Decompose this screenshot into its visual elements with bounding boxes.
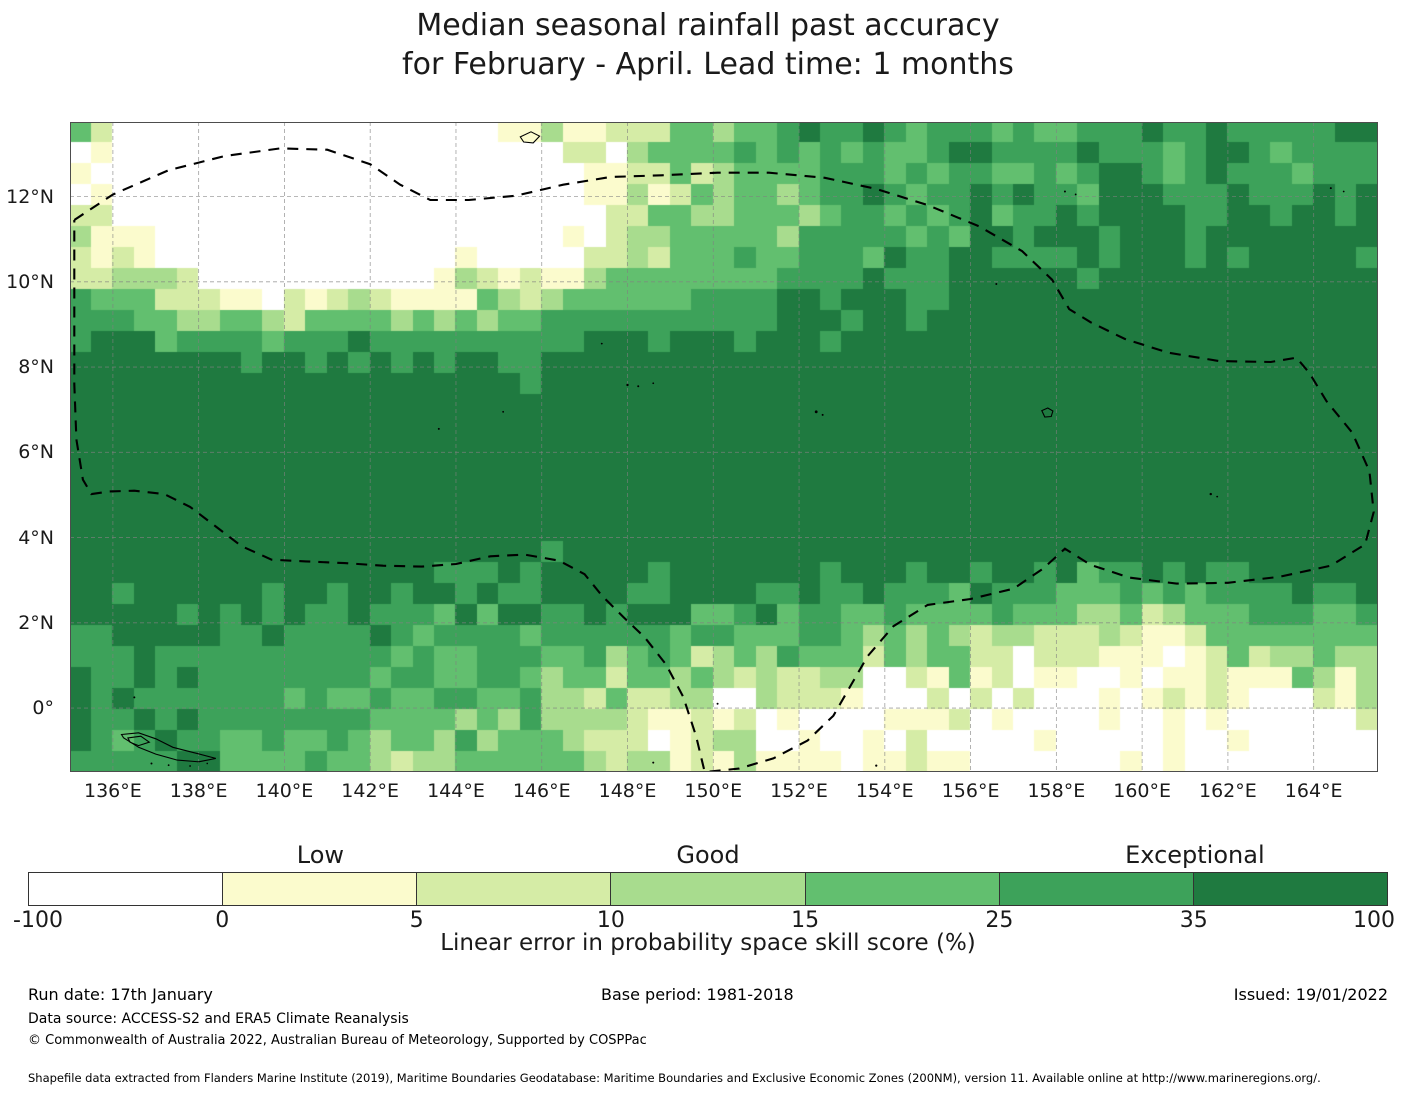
x-tick-144°E: 144°E bbox=[427, 780, 485, 802]
colorbar-segment-10-15 bbox=[610, 873, 804, 905]
colorbar-segment-15-25 bbox=[805, 873, 999, 905]
x-tick-160°E: 160°E bbox=[1113, 780, 1171, 802]
footer-copyright: © Commonwealth of Australia 2022, Austra… bbox=[28, 1033, 647, 1048]
colorbar-label-exceptional: Exceptional bbox=[1125, 841, 1265, 869]
x-axis-tick-labels: 136°E138°E140°E142°E144°E146°E148°E150°E… bbox=[70, 780, 1378, 810]
colorbar-segment-5-10 bbox=[416, 873, 610, 905]
x-tick-152°E: 152°E bbox=[770, 780, 828, 802]
y-tick-8°N: 8°N bbox=[18, 356, 54, 378]
map-plot-area[interactable] bbox=[70, 122, 1378, 772]
coastline-line bbox=[122, 132, 1345, 767]
x-tick-154°E: 154°E bbox=[856, 780, 914, 802]
x-tick-158°E: 158°E bbox=[1027, 780, 1085, 802]
colorbar-segments bbox=[28, 872, 1388, 906]
x-tick-136°E: 136°E bbox=[84, 780, 142, 802]
x-tick-138°E: 138°E bbox=[170, 780, 228, 802]
y-tick-0°: 0° bbox=[32, 697, 54, 719]
title-line-1: Median seasonal rainfall past accuracy bbox=[416, 8, 999, 43]
title-line-2: for February - April. Lead time: 1 month… bbox=[0, 45, 1416, 84]
y-tick-2°N: 2°N bbox=[18, 612, 54, 634]
x-tick-156°E: 156°E bbox=[942, 780, 1000, 802]
map-vector-overlay bbox=[70, 122, 1378, 772]
x-tick-146°E: 146°E bbox=[513, 780, 571, 802]
x-tick-164°E: 164°E bbox=[1285, 780, 1343, 802]
colorbar-segment--100-0 bbox=[29, 873, 222, 905]
colorbar-segment-25-35 bbox=[999, 873, 1193, 905]
y-axis-tick-labels: 0°2°N4°N6°N8°N10°N12°N bbox=[0, 122, 62, 772]
colorbar-caption: Linear error in probability space skill … bbox=[0, 930, 1416, 956]
footer: Run date: 17th January Base period: 1981… bbox=[0, 985, 1416, 1095]
eez-boundary-line bbox=[74, 148, 1373, 772]
footer-base-period: Base period: 1981-2018 bbox=[601, 985, 794, 1004]
footer-run-date: Run date: 17th January bbox=[28, 985, 213, 1004]
colorbar[interactable] bbox=[28, 872, 1388, 906]
page-title: Median seasonal rainfall past accuracy f… bbox=[0, 6, 1416, 84]
colorbar-segment-0-5 bbox=[222, 873, 416, 905]
x-tick-150°E: 150°E bbox=[684, 780, 742, 802]
colorbar-label-low: Low bbox=[297, 841, 344, 869]
y-tick-12°N: 12°N bbox=[6, 186, 54, 208]
gridlines bbox=[70, 122, 1378, 772]
y-tick-6°N: 6°N bbox=[18, 441, 54, 463]
colorbar-label-good: Good bbox=[676, 841, 739, 869]
x-tick-142°E: 142°E bbox=[341, 780, 399, 802]
colorbar-segment-35-100 bbox=[1193, 873, 1387, 905]
y-tick-4°N: 4°N bbox=[18, 527, 54, 549]
colorbar-quality-labels: LowGoodExceptional bbox=[28, 841, 1388, 869]
footer-issued-date: Issued: 19/01/2022 bbox=[1234, 985, 1388, 1004]
footer-shapefile-note: Shapefile data extracted from Flanders M… bbox=[28, 1071, 1321, 1085]
y-tick-10°N: 10°N bbox=[6, 271, 54, 293]
footer-data-source: Data source: ACCESS-S2 and ERA5 Climate … bbox=[28, 1011, 409, 1027]
x-tick-162°E: 162°E bbox=[1199, 780, 1257, 802]
x-tick-140°E: 140°E bbox=[256, 780, 314, 802]
x-tick-148°E: 148°E bbox=[599, 780, 657, 802]
